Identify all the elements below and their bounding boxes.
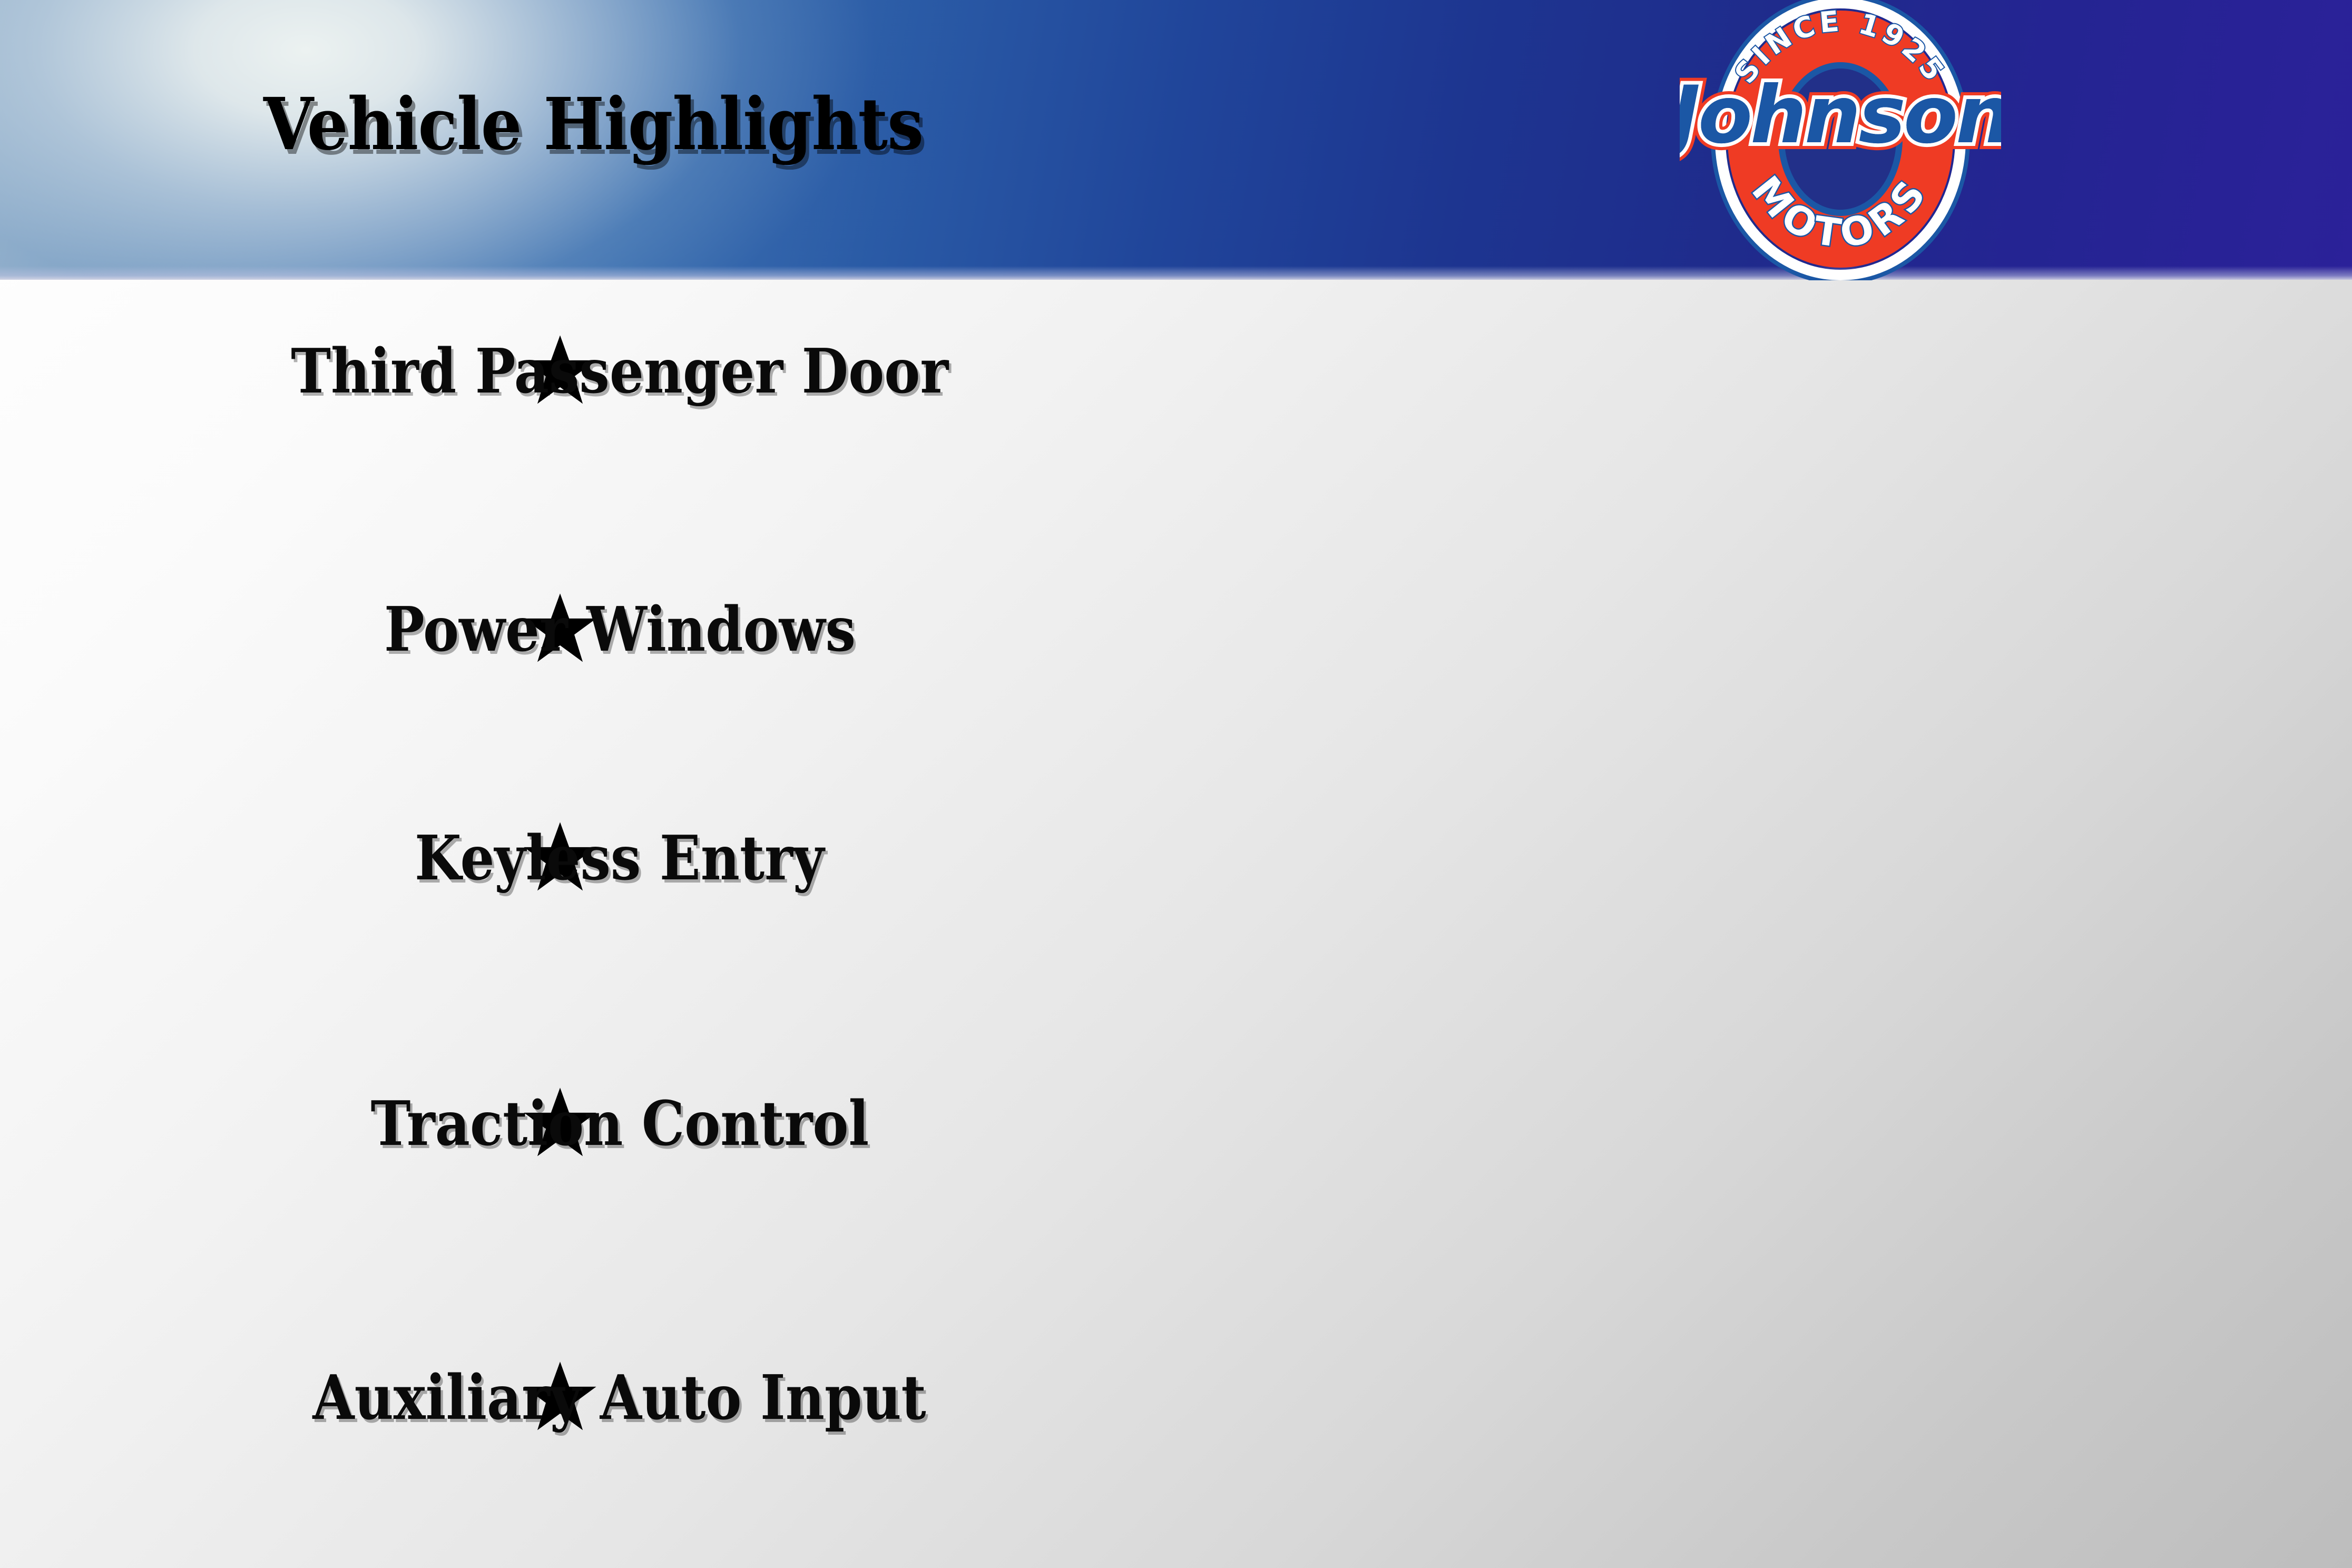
feature-row: Traction Control xyxy=(0,1071,2352,1177)
feature-row: Keyless Entry xyxy=(0,806,2352,911)
johnson-motors-logo: SINCE 1925 MOTORS Johnson Johnson Johnso… xyxy=(1680,0,2001,280)
feature-label: Traction Control xyxy=(0,1093,2352,1154)
feature-label-text: Keyless Entry xyxy=(415,828,824,889)
feature-row: Power Windows xyxy=(0,577,2352,682)
page-title: Vehicle Highlights xyxy=(263,89,923,160)
feature-list: Third Passenger Door Power Windows Keyle… xyxy=(0,280,2352,1568)
feature-label-text: Auxiliary Auto Input xyxy=(313,1367,926,1428)
feature-label: Keyless Entry xyxy=(0,828,2352,889)
feature-label: Auxiliary Auto Input xyxy=(0,1367,2352,1428)
svg-text:Johnson: Johnson xyxy=(1680,70,2001,161)
slide-root: Vehicle Highlights SINCE 1925 xyxy=(0,0,2352,1568)
feature-label-text: Third Passenger Door xyxy=(291,341,948,402)
feature-label-text: Traction Control xyxy=(370,1093,869,1154)
header-banner: Vehicle Highlights SINCE 1925 xyxy=(0,0,2352,280)
feature-row: Auxiliary Auto Input xyxy=(0,1345,2352,1451)
feature-label: Third Passenger Door xyxy=(0,341,2352,402)
feature-label: Power Windows xyxy=(0,599,2352,660)
feature-row: Third Passenger Door xyxy=(0,319,2352,424)
logo-wordmark: Johnson Johnson Johnson xyxy=(1680,70,2001,161)
feature-label-text: Power Windows xyxy=(384,599,856,660)
